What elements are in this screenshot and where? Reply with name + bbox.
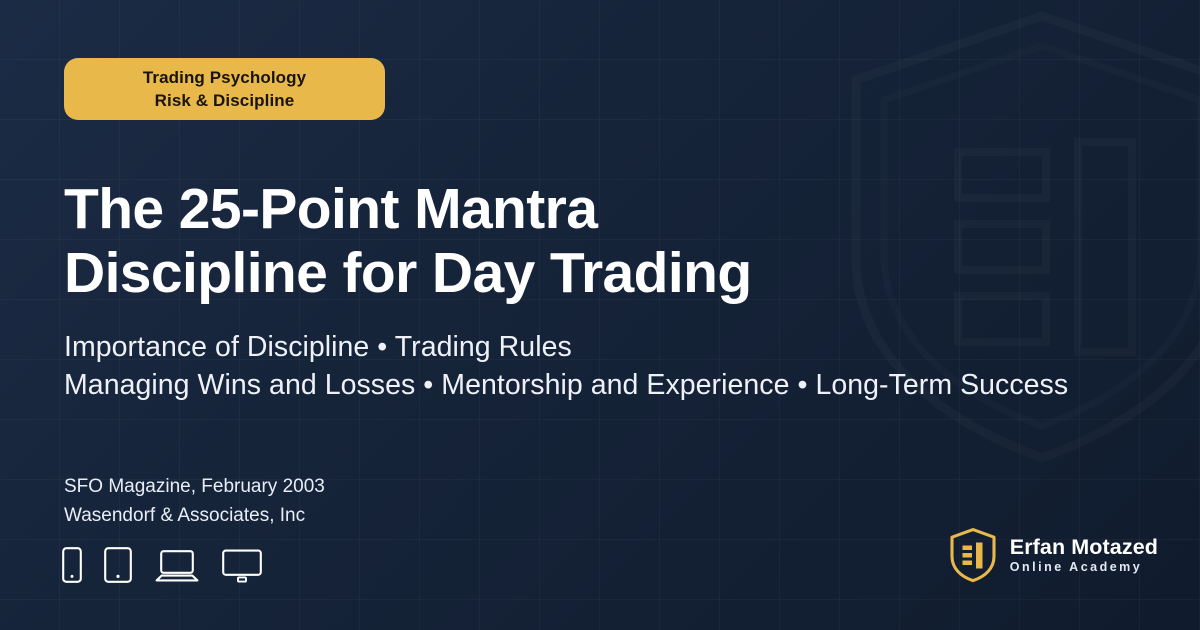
desktop-monitor-icon [222,549,262,583]
page-title-line-1: The 25-Point Mantra [64,178,1124,242]
topic-badge-line-1: Trading Psychology [143,67,306,88]
brand-name: Erfan Motazed [1010,537,1158,559]
topic-badge: Trading Psychology Risk & Discipline [64,58,385,120]
source-attribution: SFO Magazine, February 2003 Wasendorf & … [64,472,325,531]
source-publication: SFO Magazine, February 2003 [64,472,325,501]
laptop-icon [154,549,200,583]
shield-monogram-icon [949,527,997,583]
poster-canvas: Trading Psychology Risk & Discipline The… [0,0,1200,630]
subtitle: Importance of Discipline • Trading Rules… [64,328,1154,404]
brand-logo-text: Erfan Motazed Online Academy [1010,537,1158,574]
brand-logo: Erfan Motazed Online Academy [949,527,1158,583]
page-title-line-2: Discipline for Day Trading [64,242,1124,306]
brand-tagline: Online Academy [1010,561,1158,574]
subtitle-line-1: Importance of Discipline • Trading Rules [64,328,1154,366]
device-compatibility-icons [62,547,262,583]
phone-icon [62,547,82,583]
tablet-icon [104,547,132,583]
page-title: The 25-Point Mantra Discipline for Day T… [64,178,1124,306]
source-publisher: Wasendorf & Associates, Inc [64,501,325,530]
topic-badge-line-2: Risk & Discipline [155,90,295,111]
subtitle-line-2: Managing Wins and Losses • Mentorship an… [64,366,1154,404]
